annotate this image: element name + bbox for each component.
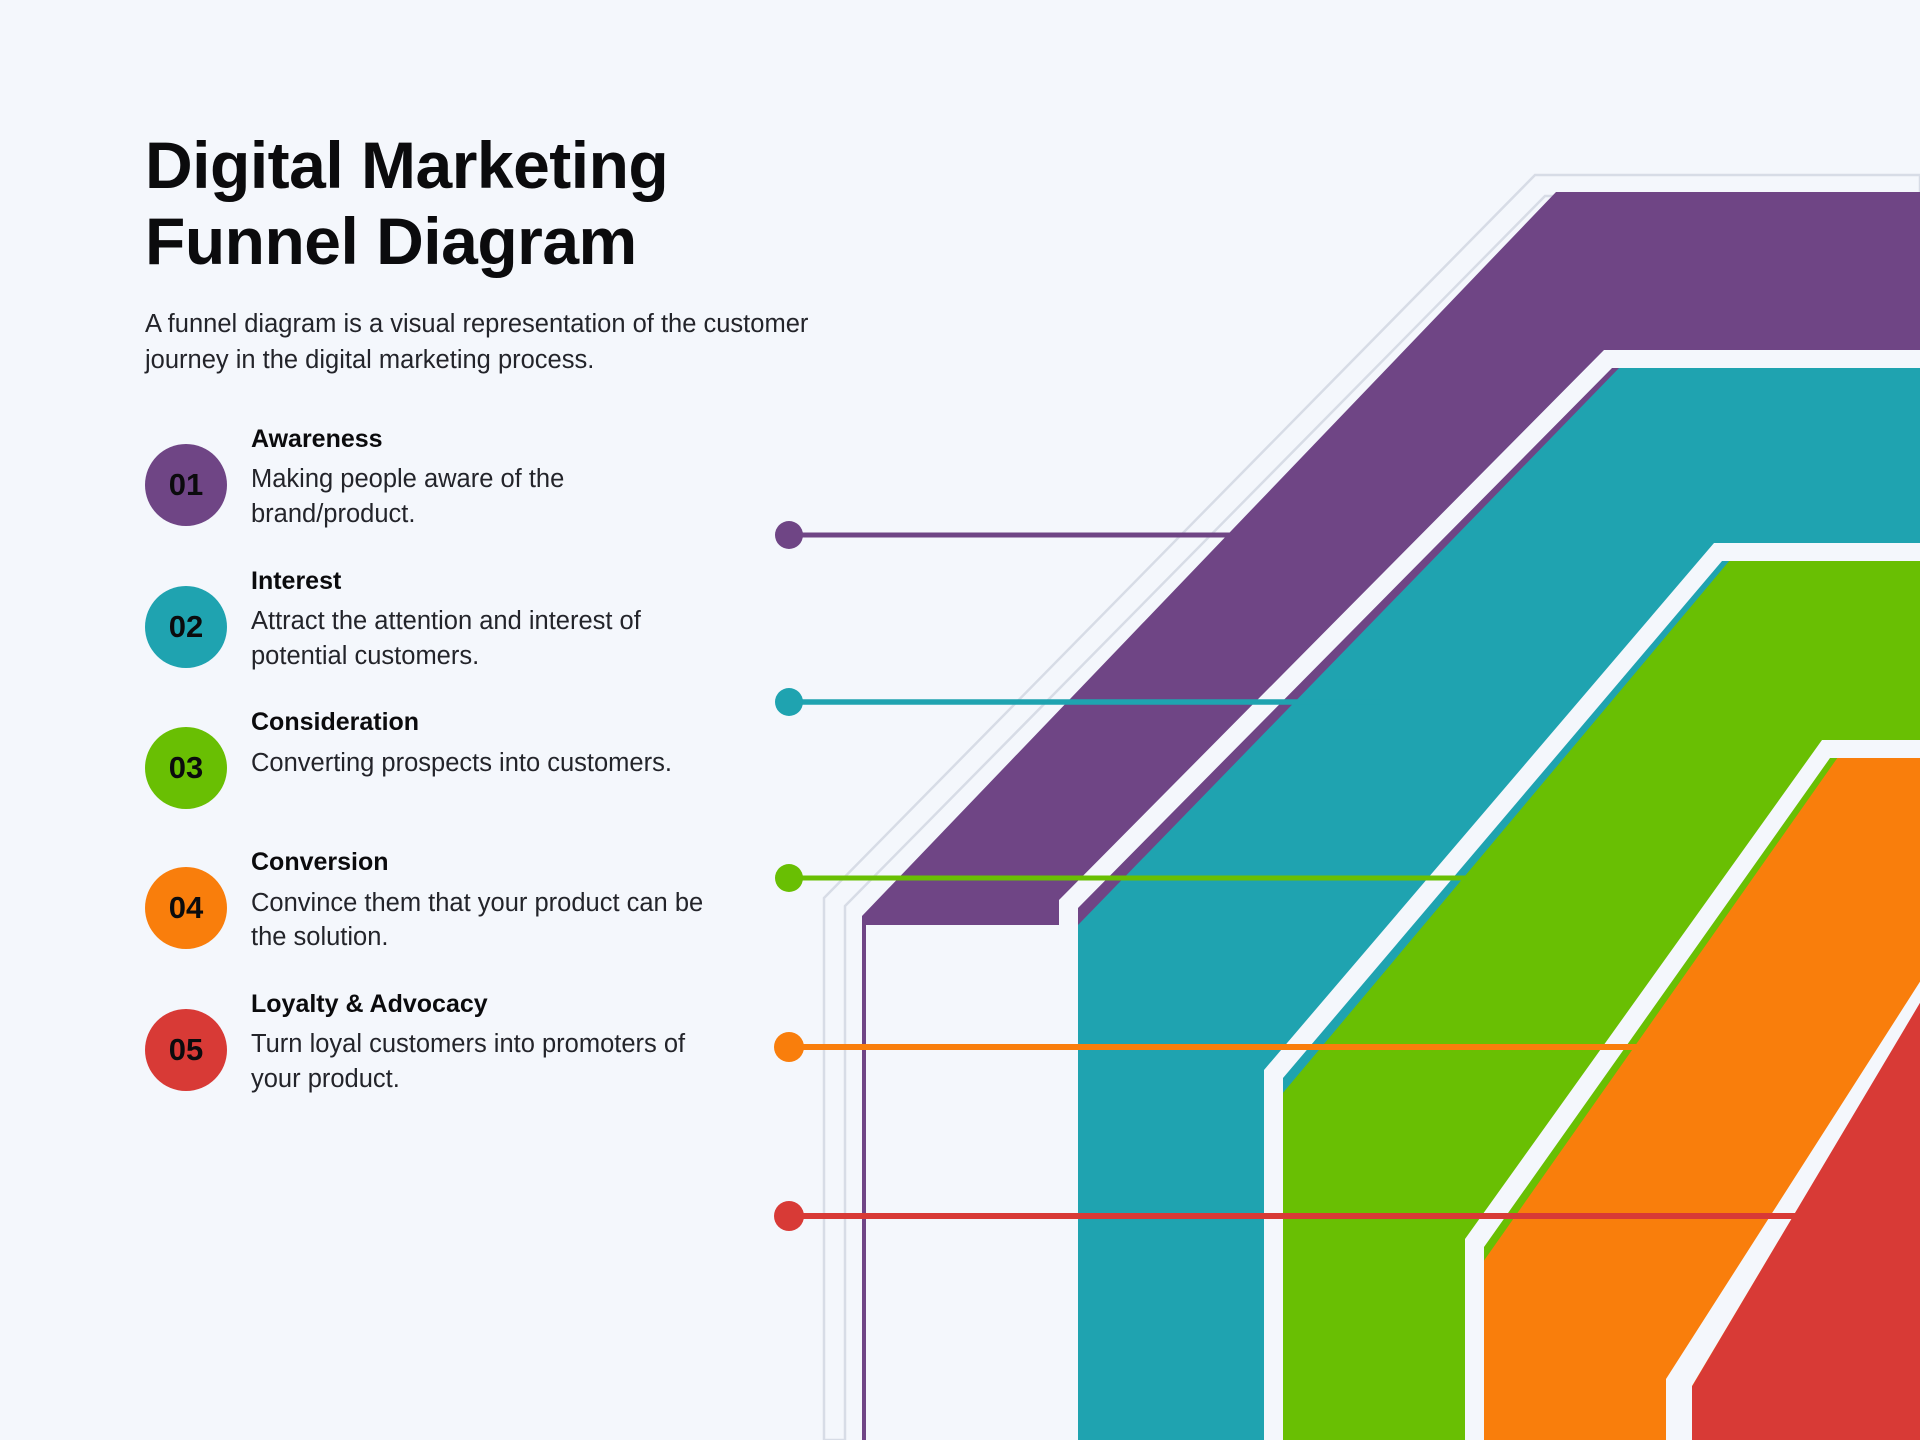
list-item[interactable]: 01 Awareness Making people aware of the …: [145, 422, 905, 532]
page-title: Digital Marketing Funnel Diagram: [145, 128, 905, 280]
stage-number-badge: 04: [145, 867, 227, 949]
page-subtitle: A funnel diagram is a visual representat…: [145, 306, 835, 378]
stage-number-badge: 05: [145, 1009, 227, 1091]
stage-number-badge: 02: [145, 586, 227, 668]
list-item[interactable]: 02 Interest Attract the attention and in…: [145, 564, 905, 674]
stage-title: Awareness: [251, 424, 711, 455]
stage-description: Converting prospects into customers.: [251, 746, 672, 781]
stage-description: Making people aware of the brand/product…: [251, 462, 711, 531]
stage-number-badge: 01: [145, 444, 227, 526]
stage-title: Interest: [251, 566, 711, 597]
stage-text: Awareness Making people aware of the bra…: [251, 422, 711, 532]
content-column: Digital Marketing Funnel Diagram A funne…: [145, 128, 905, 1129]
stage-title: Consideration: [251, 707, 672, 738]
stage-number-badge: 03: [145, 727, 227, 809]
stage-title: Conversion: [251, 847, 711, 878]
stage-text: Loyalty & Advocacy Turn loyal customers …: [251, 987, 711, 1097]
stage-description: Turn loyal customers into promoters of y…: [251, 1027, 711, 1096]
list-item[interactable]: 03 Consideration Converting prospects in…: [145, 705, 905, 813]
stage-text: Interest Attract the attention and inter…: [251, 564, 711, 674]
stage-text: Consideration Converting prospects into …: [251, 705, 672, 780]
stage-description: Attract the attention and interest of po…: [251, 604, 711, 673]
list-item[interactable]: 04 Conversion Convince them that your pr…: [145, 845, 905, 955]
funnel-stage-legend: 01 Awareness Making people aware of the …: [145, 422, 905, 1096]
connector-dot-loyalty: [774, 1201, 804, 1231]
stage-title: Loyalty & Advocacy: [251, 989, 711, 1020]
stage-description: Convince them that your product can be t…: [251, 886, 711, 955]
infographic-canvas: Digital Marketing Funnel Diagram A funne…: [0, 0, 1920, 1440]
stage-text: Conversion Convince them that your produ…: [251, 845, 711, 955]
list-item[interactable]: 05 Loyalty & Advocacy Turn loyal custome…: [145, 987, 905, 1097]
